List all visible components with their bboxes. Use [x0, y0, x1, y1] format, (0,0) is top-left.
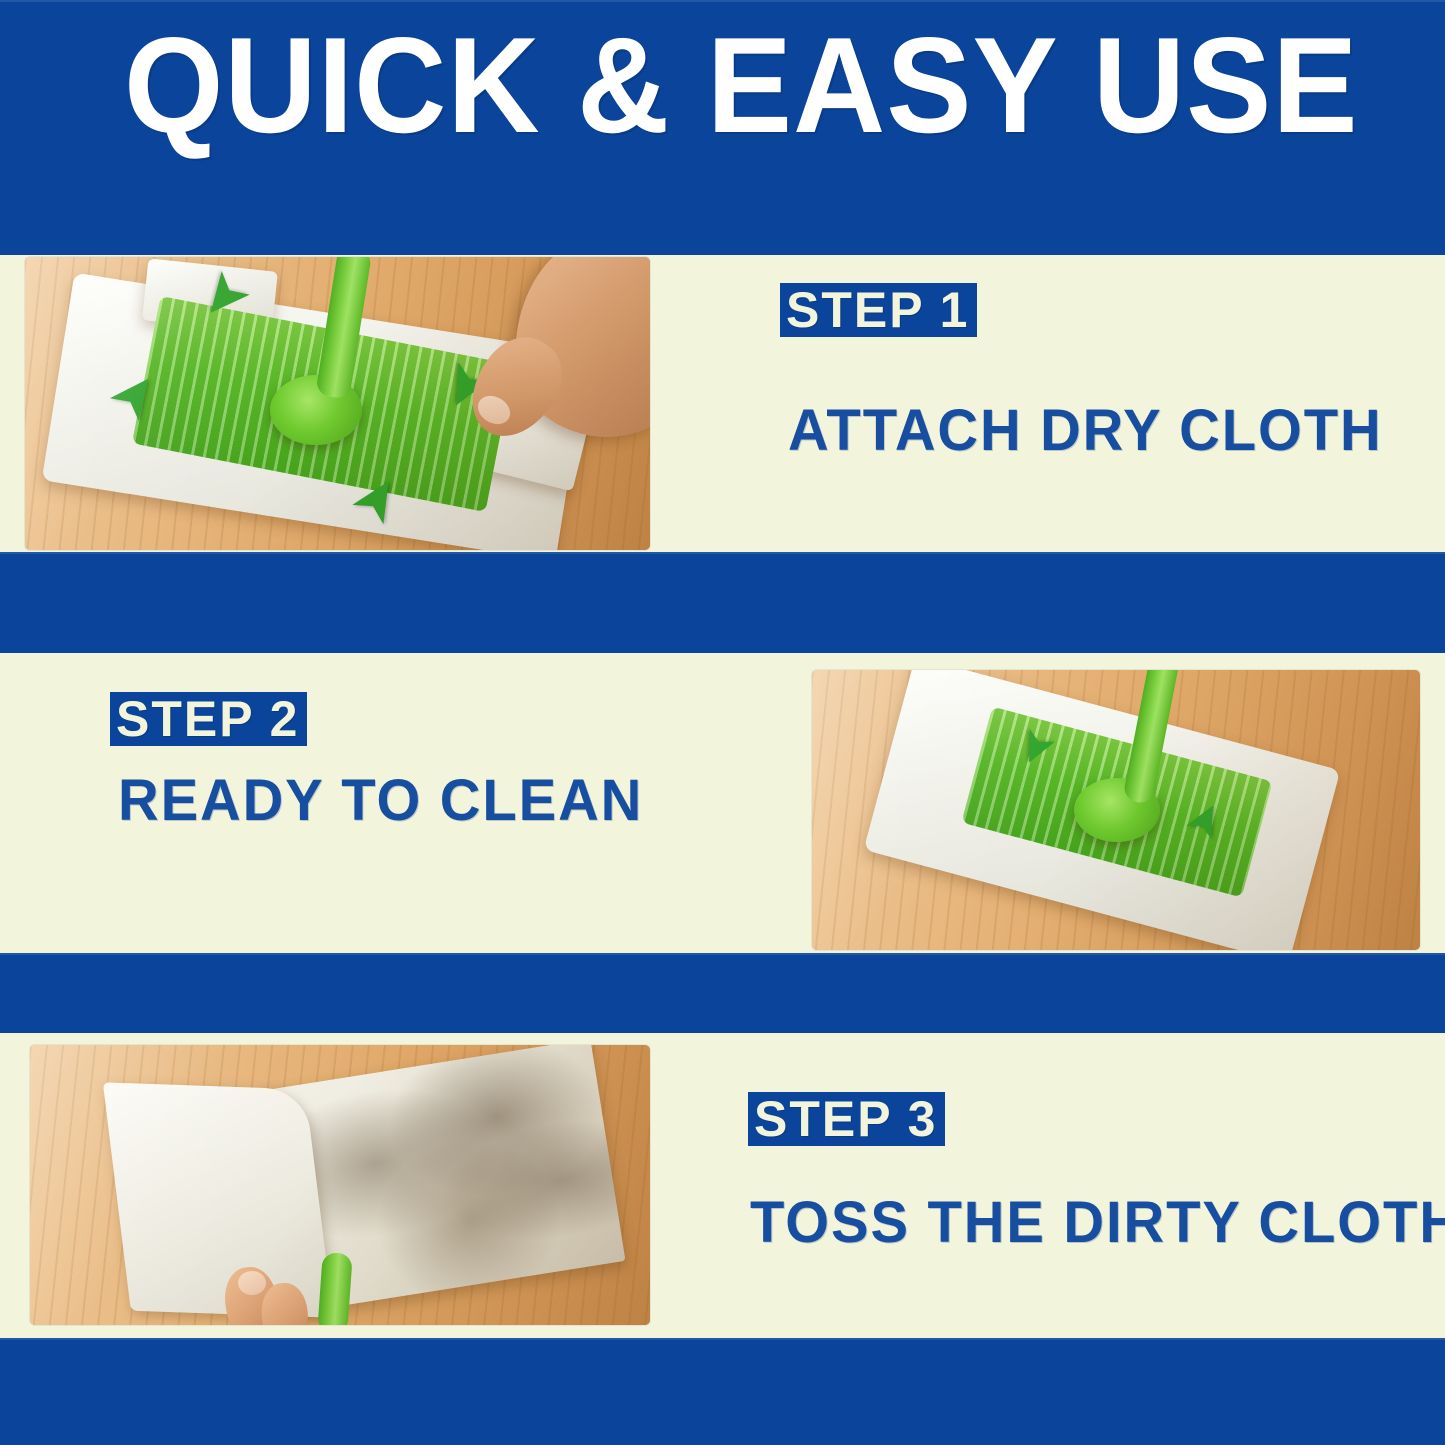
step-1-caption: ATTACH DRY CLOTH [788, 400, 1383, 462]
divider-band-1 [0, 552, 1445, 653]
step-3-photo [30, 1045, 650, 1325]
page-title: QUICK & EASY USE [124, 10, 1252, 160]
step-2-photo: ➤ ➤ [812, 670, 1420, 950]
footer-banner [0, 1338, 1445, 1445]
step-1-photo: ➤ ➤ ➤ ➤ [25, 257, 650, 550]
step-2-badge: STEP 2 [110, 692, 307, 746]
divider-band-2 [0, 953, 1445, 1033]
step-3-badge: STEP 3 [748, 1092, 945, 1146]
photo-lighting-overlay [30, 1045, 650, 1325]
step-2-caption: READY TO CLEAN [118, 770, 643, 832]
photo-lighting-overlay [812, 670, 1420, 950]
step-3-caption: TOSS THE DIRTY CLOTHS [750, 1192, 1445, 1254]
quick-and-easy-use-infographic: QUICK & EASY USE ➤ ➤ ➤ ➤ STEP 1 ATTACH D… [0, 0, 1445, 1445]
photo-lighting-overlay [25, 257, 650, 550]
step-1-badge: STEP 1 [780, 283, 977, 337]
